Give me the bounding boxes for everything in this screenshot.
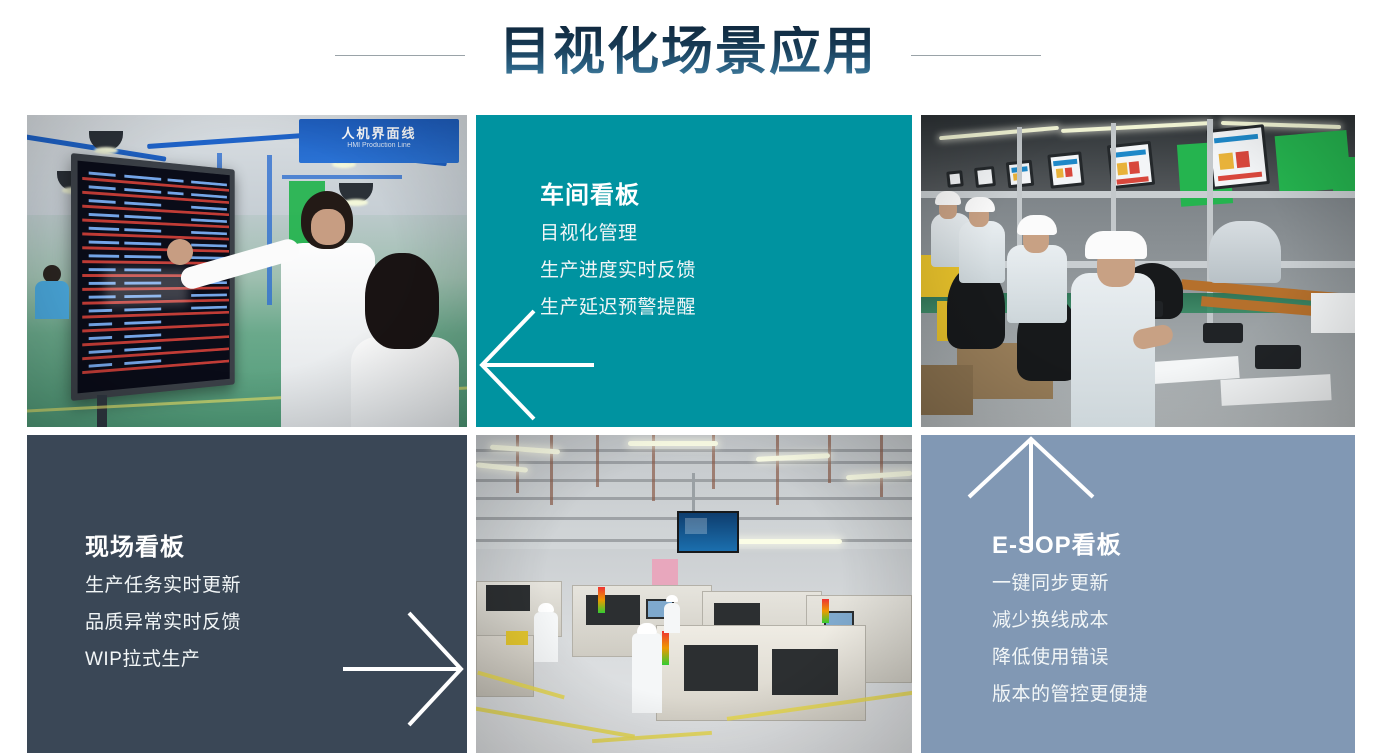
panel-esop-board: E-SOP看板 一键同步更新 减少换线成本 降低使用错误 版本的管控更便捷 [921,435,1355,753]
photo-smt-workshop [476,435,912,753]
photo-vignette [27,115,467,427]
site-board-line-1: 生产任务实时更新 [85,576,467,597]
esop-board-line-3: 降低使用错误 [992,648,1355,669]
panel-site-board: 现场看板 生产任务实时更新 品质异常实时反馈 WIP拉式生产 [27,435,467,753]
site-board-text: 现场看板 生产任务实时更新 品质异常实时反馈 WIP拉式生产 [85,527,467,687]
workshop-board-text: 车间看板 目视化管理 生产进度实时反馈 生产延迟预警提醒 [540,175,912,335]
esop-board-line-4: 版本的管控更便捷 [992,685,1355,706]
page-header: 目视化场景应用 [0,0,1376,110]
photo-kanban-factory: 人机界面线 HMI Production Line [27,115,467,427]
workshop-board-heading: 车间看板 [540,175,912,210]
esop-board-line-1: 一键同步更新 [992,574,1355,595]
photo-vignette [476,435,912,753]
scene-grid: 人机界面线 HMI Production Line [27,115,1348,753]
title-rule-left [335,55,465,56]
esop-board-heading: E-SOP看板 [992,525,1355,560]
page-title: 目视化场景应用 [499,26,877,84]
workshop-board-line-1: 目视化管理 [540,224,912,245]
poster-root: 目视化场景应用 人机界面线 HMI Production L [0,0,1376,753]
site-board-heading: 现场看板 [85,527,467,562]
esop-board-line-2: 减少换线成本 [992,611,1355,632]
kanban-factory-image: 人机界面线 HMI Production Line [27,115,467,427]
esop-board-text: E-SOP看板 一键同步更新 减少换线成本 降低使用错误 版本的管控更便捷 [992,525,1355,722]
workshop-board-line-3: 生产延迟预警提醒 [540,298,912,319]
panel-workshop-board: 车间看板 目视化管理 生产进度实时反馈 生产延迟预警提醒 [476,115,912,427]
title-rule-right [911,55,1041,56]
photo-assembly-line [921,115,1355,427]
assembly-line-image [921,115,1355,427]
site-board-line-3: WIP拉式生产 [85,650,467,671]
site-board-line-2: 品质异常实时反馈 [85,613,467,634]
smt-workshop-image [476,435,912,753]
workshop-board-line-2: 生产进度实时反馈 [540,261,912,282]
